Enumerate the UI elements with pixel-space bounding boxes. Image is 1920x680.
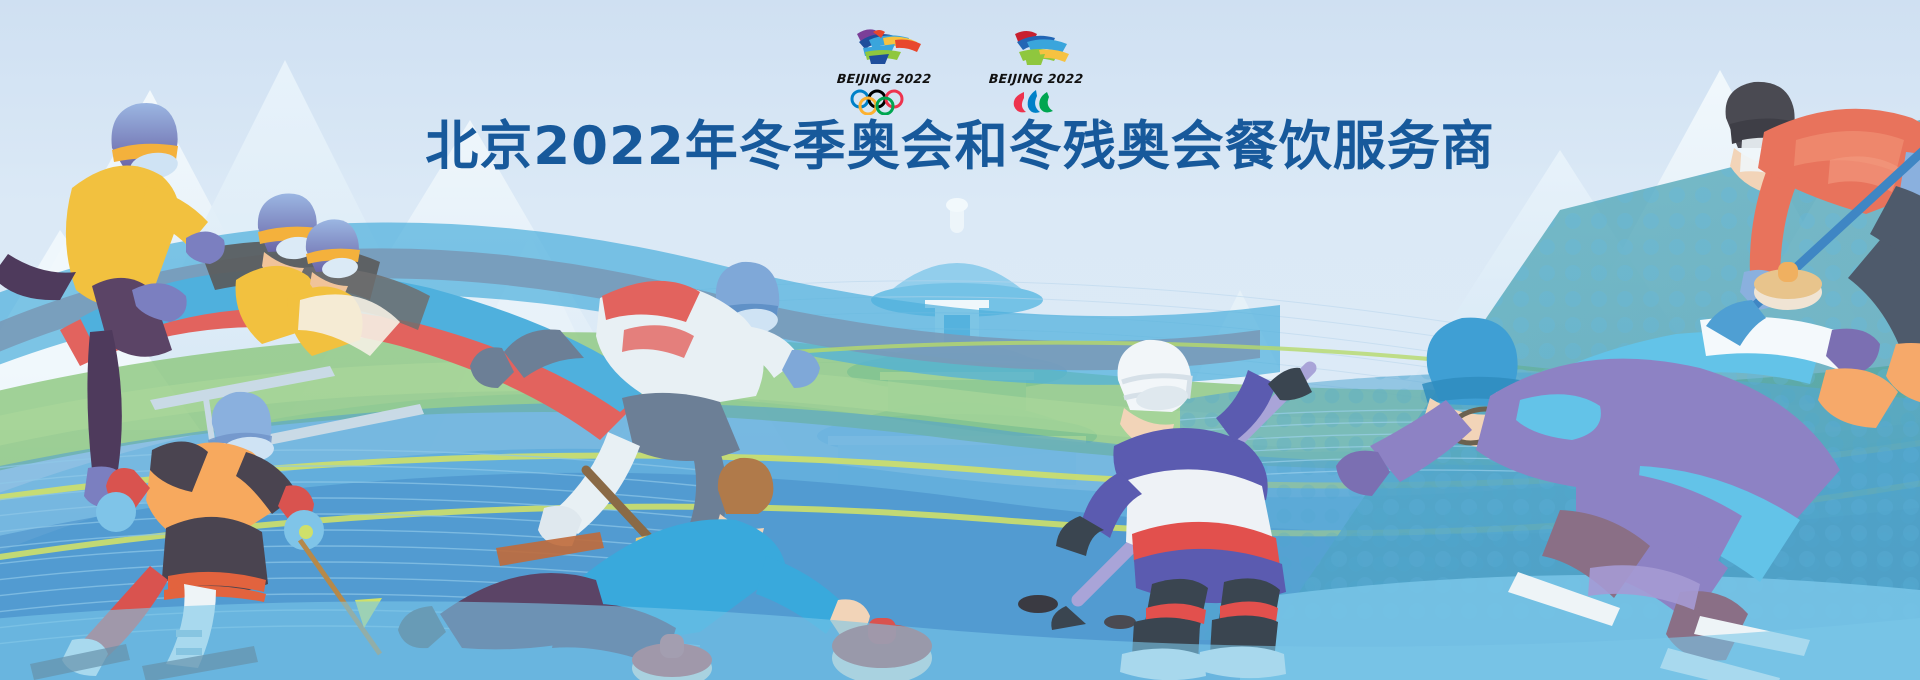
olympic-rings-icon bbox=[846, 89, 922, 115]
foreground-wave bbox=[0, 601, 1920, 680]
athlete-ice-hockey-player bbox=[1051, 340, 1312, 680]
emblem-olympic-wordmark: BEIJING 2022 bbox=[836, 71, 931, 86]
title-container: 北京2022年冬季奥会和冬残奥会餐饮服务商 bbox=[0, 118, 1920, 176]
page-title: 北京2022年冬季奥会和冬残奥会餐饮服务商 bbox=[425, 118, 1495, 176]
olympic-sponsor-banner: BEIJING 2022 BEIJING 2022 bbox=[0, 0, 1920, 680]
emblem-paralympic-wordmark: BEIJING 2022 bbox=[988, 71, 1083, 86]
athlete-speed-skater-purple bbox=[1336, 317, 1880, 680]
beijing-2022-winter-paralympics-emblem-icon bbox=[991, 22, 1081, 68]
paralympic-agitos-icon bbox=[1006, 89, 1066, 115]
emblem-olympic: BEIJING 2022 bbox=[834, 22, 934, 115]
hockey-puck bbox=[1018, 595, 1058, 613]
beijing-2022-winter-olympics-emblem-icon bbox=[839, 22, 929, 68]
emblem-paralympic: BEIJING 2022 bbox=[986, 22, 1086, 115]
emblem-row: BEIJING 2022 BEIJING 2022 bbox=[0, 22, 1920, 115]
